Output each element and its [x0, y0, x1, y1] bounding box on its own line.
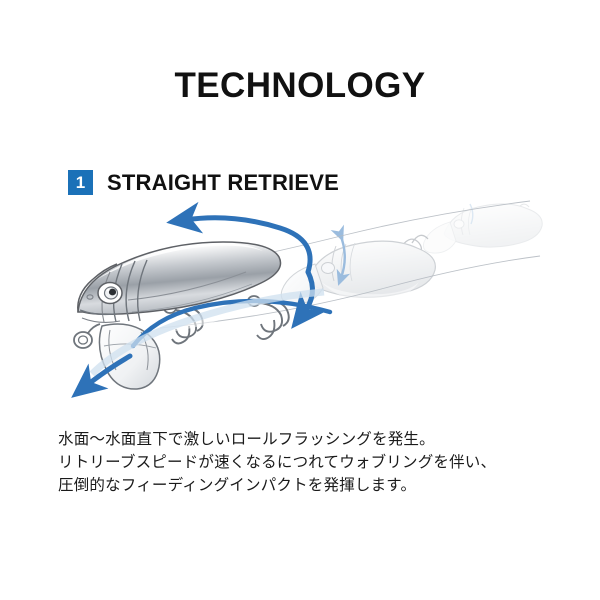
page-root: TECHNOLOGY 1 STRAIGHT RETRIEVE — [0, 0, 600, 600]
line-tie-ring — [74, 324, 100, 348]
lure-eye — [98, 283, 122, 304]
page-title: TECHNOLOGY — [0, 68, 600, 103]
caption-line-3: 圧倒的なフィーディングインパクトを発揮します。 — [58, 474, 558, 497]
lure-illustration — [40, 160, 570, 420]
caption-line-1: 水面〜水面直下で激しいロールフラッシングを発生。 — [58, 428, 558, 451]
caption-line-2: リトリーブスピードが速くなるにつれてウォブリングを伴い、 — [58, 451, 558, 474]
ghost-lure-far — [423, 204, 542, 253]
caption-block: 水面〜水面直下で激しいロールフラッシングを発生。 リトリーブスピードが速くなるに… — [58, 428, 558, 497]
